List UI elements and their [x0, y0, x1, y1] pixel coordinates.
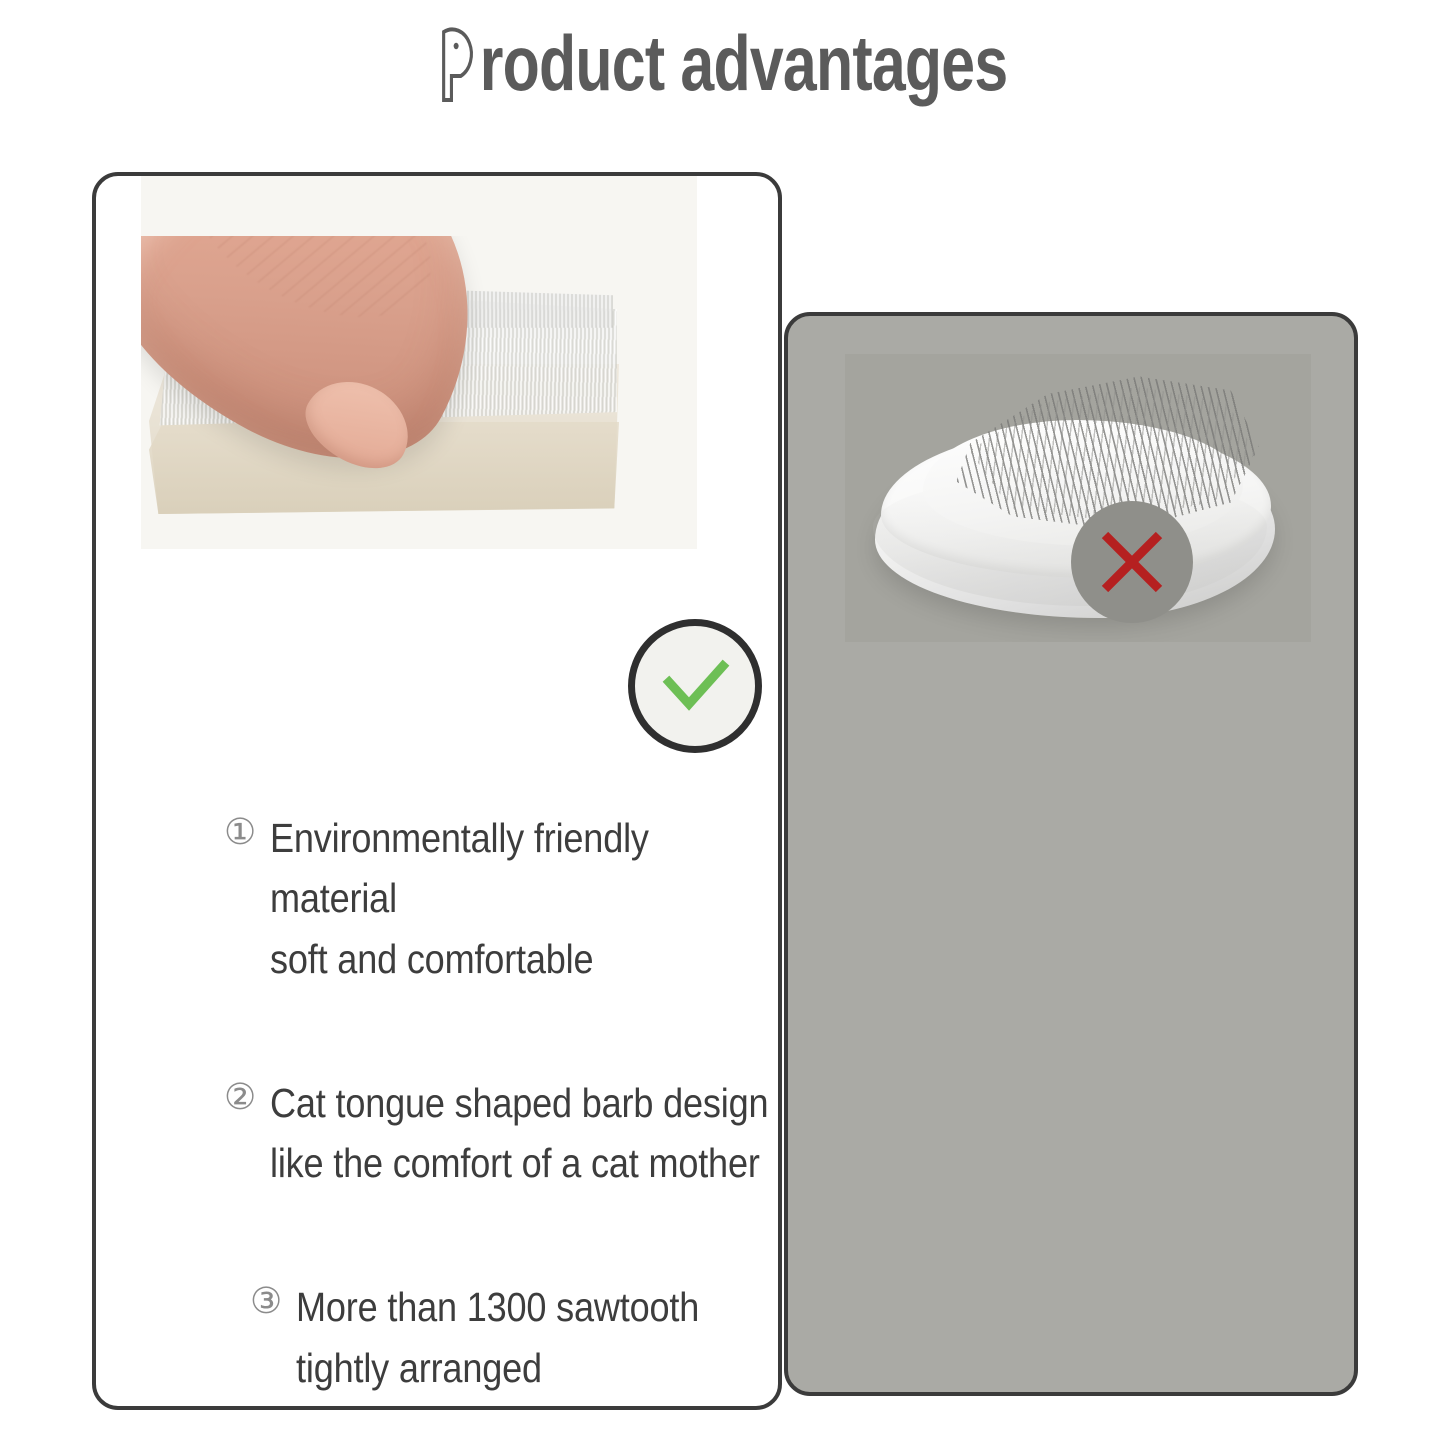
- pro-photo-top-bleed: [141, 172, 697, 240]
- cross-icon: [1071, 501, 1193, 623]
- list-item: ① Environmentally friendly material soft…: [224, 808, 782, 989]
- list-item-number: ③: [250, 1277, 282, 1327]
- page-title: roduct advantages: [159, 22, 1286, 102]
- list-item-label: Environmentally friendly material soft a…: [270, 808, 782, 989]
- list-item: ③ More than 1300 sawtooth tightly arrang…: [224, 1277, 782, 1398]
- con-comparison-card: ① Metal material, not soft ② Needle desi…: [784, 312, 1358, 1396]
- pro-product-photo: [141, 236, 697, 549]
- list-item-label: More than 1300 sawtooth tightly arranged: [296, 1277, 699, 1398]
- list-item: ② Cat tongue shaped barb design like the…: [224, 1073, 782, 1194]
- page-title-text: roduct advantages: [480, 19, 1008, 107]
- list-item-number: ①: [224, 808, 256, 858]
- check-icon: [628, 619, 762, 753]
- pro-advantage-card: ① Environmentally friendly material soft…: [92, 172, 782, 1410]
- list-item-label: Cat tongue shaped barb design like the c…: [270, 1073, 768, 1194]
- pro-feature-list: ① Environmentally friendly material soft…: [224, 808, 782, 1398]
- decorative-p-glyph: [438, 22, 479, 102]
- con-product-photo: [845, 354, 1311, 642]
- list-item-number: ②: [224, 1073, 256, 1123]
